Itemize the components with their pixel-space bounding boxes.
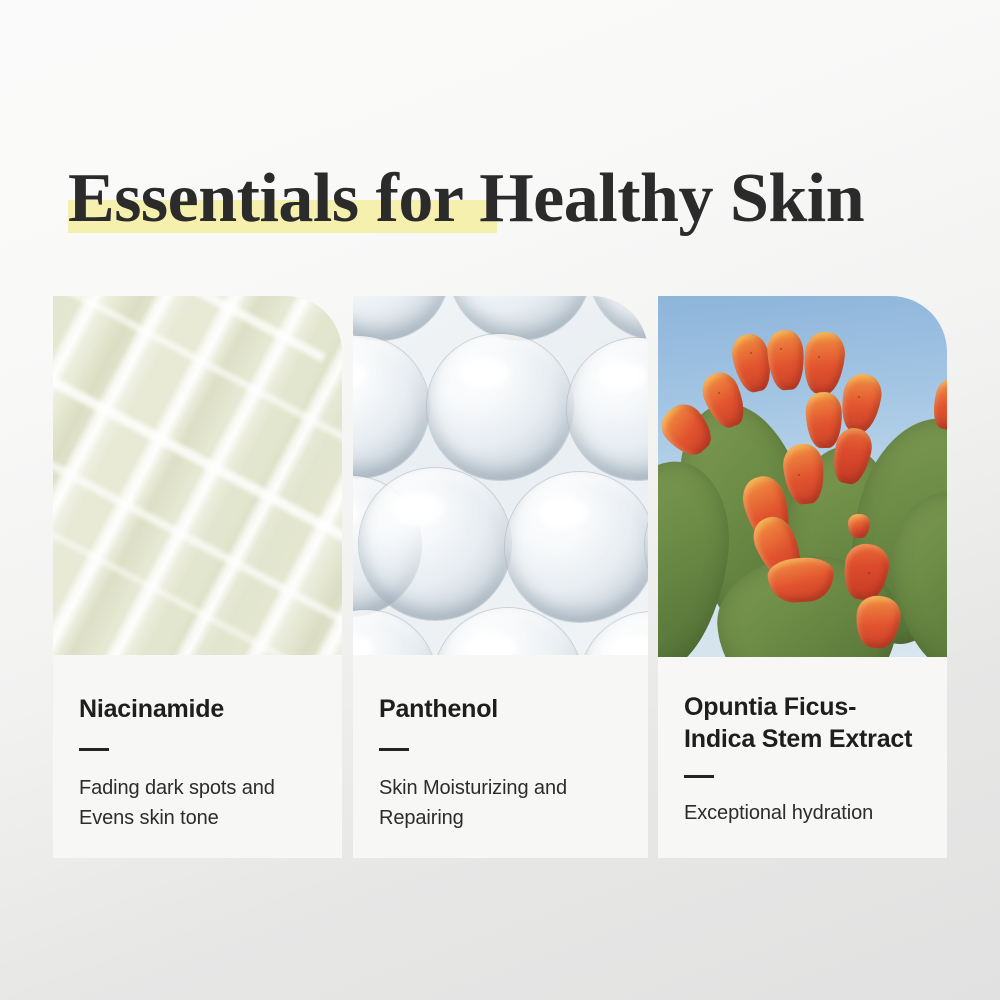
card-title: Panthenol xyxy=(379,693,622,725)
ingredient-card-opuntia[interactable]: Opuntia Ficus-Indica Stem Extract Except… xyxy=(658,296,947,858)
card-image-cream-texture xyxy=(53,296,342,655)
card-description: Fading dark spots and Evens skin tone xyxy=(79,773,316,833)
card-description: Skin Moisturizing and Repairing xyxy=(379,773,622,833)
card-text-panel: Niacinamide Fading dark spots and Evens … xyxy=(53,655,342,858)
card-image-cactus xyxy=(658,296,947,657)
card-description: Exceptional hydration xyxy=(684,798,921,828)
ingredient-card-niacinamide[interactable]: Niacinamide Fading dark spots and Evens … xyxy=(53,296,342,858)
poster-canvas: Essentials for Healthy Skin Niacinamide … xyxy=(0,0,1000,1000)
card-image-gel-bubbles xyxy=(353,296,648,655)
card-divider xyxy=(79,748,109,751)
card-title: Opuntia Ficus-Indica Stem Extract xyxy=(684,691,921,755)
cactus-photo-graphic xyxy=(658,296,947,657)
cream-texture-graphic xyxy=(53,296,342,655)
ingredient-card-row: Niacinamide Fading dark spots and Evens … xyxy=(53,296,947,858)
card-divider xyxy=(684,775,714,778)
headline-block: Essentials for Healthy Skin xyxy=(68,160,948,250)
card-title: Niacinamide xyxy=(79,693,316,725)
page-title: Essentials for Healthy Skin xyxy=(68,160,948,238)
card-divider xyxy=(379,748,409,751)
gel-bubbles-graphic xyxy=(353,296,648,655)
card-text-panel: Opuntia Ficus-Indica Stem Extract Except… xyxy=(658,657,947,858)
ingredient-card-panthenol[interactable]: Panthenol Skin Moisturizing and Repairin… xyxy=(353,296,648,858)
card-text-panel: Panthenol Skin Moisturizing and Repairin… xyxy=(353,655,648,858)
